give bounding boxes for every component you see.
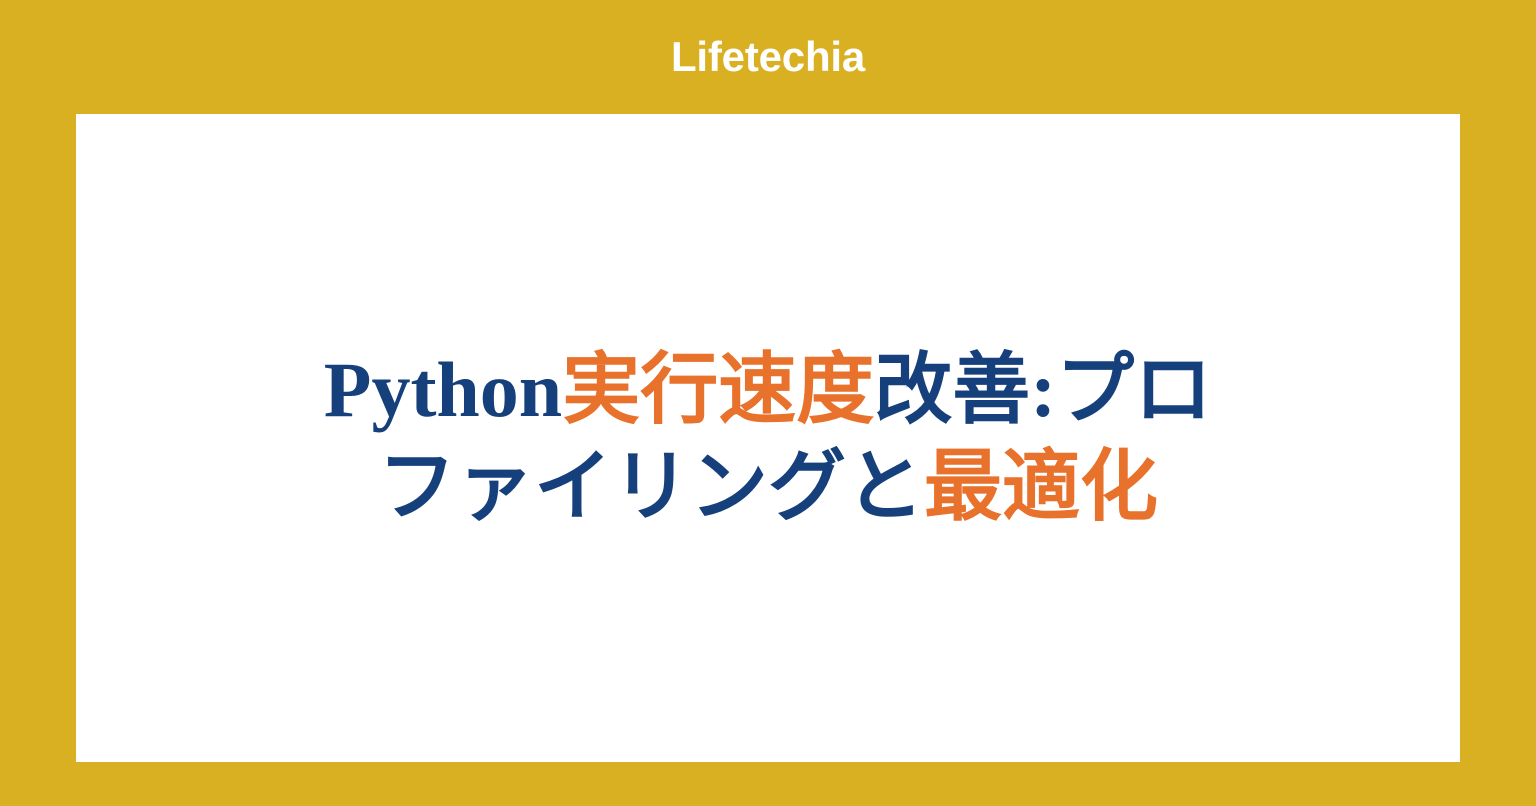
title-card: Python実行速度改善:プロファイリングと最適化	[76, 114, 1460, 762]
title-segment-jikkou-sokudo: 実行速度	[562, 346, 874, 433]
title-line-1: Python実行速度改善:プロ	[268, 341, 1268, 439]
title-segment-saitekika: 最適化	[924, 443, 1158, 530]
poster-canvas: Lifetechia Python実行速度改善:プロファイリングと最適化	[0, 0, 1536, 806]
title-segment-kaizen-puro: 改善:プロ	[874, 346, 1212, 433]
brand-header: Lifetechia	[0, 0, 1536, 114]
brand-name: Lifetechia	[671, 36, 865, 78]
title-segment-python: Python	[324, 346, 562, 433]
title-line-2: ファイリングと最適化	[268, 438, 1268, 536]
title-segment-fairingu-to: ファイリングと	[378, 443, 924, 530]
article-title: Python実行速度改善:プロファイリングと最適化	[268, 341, 1268, 536]
